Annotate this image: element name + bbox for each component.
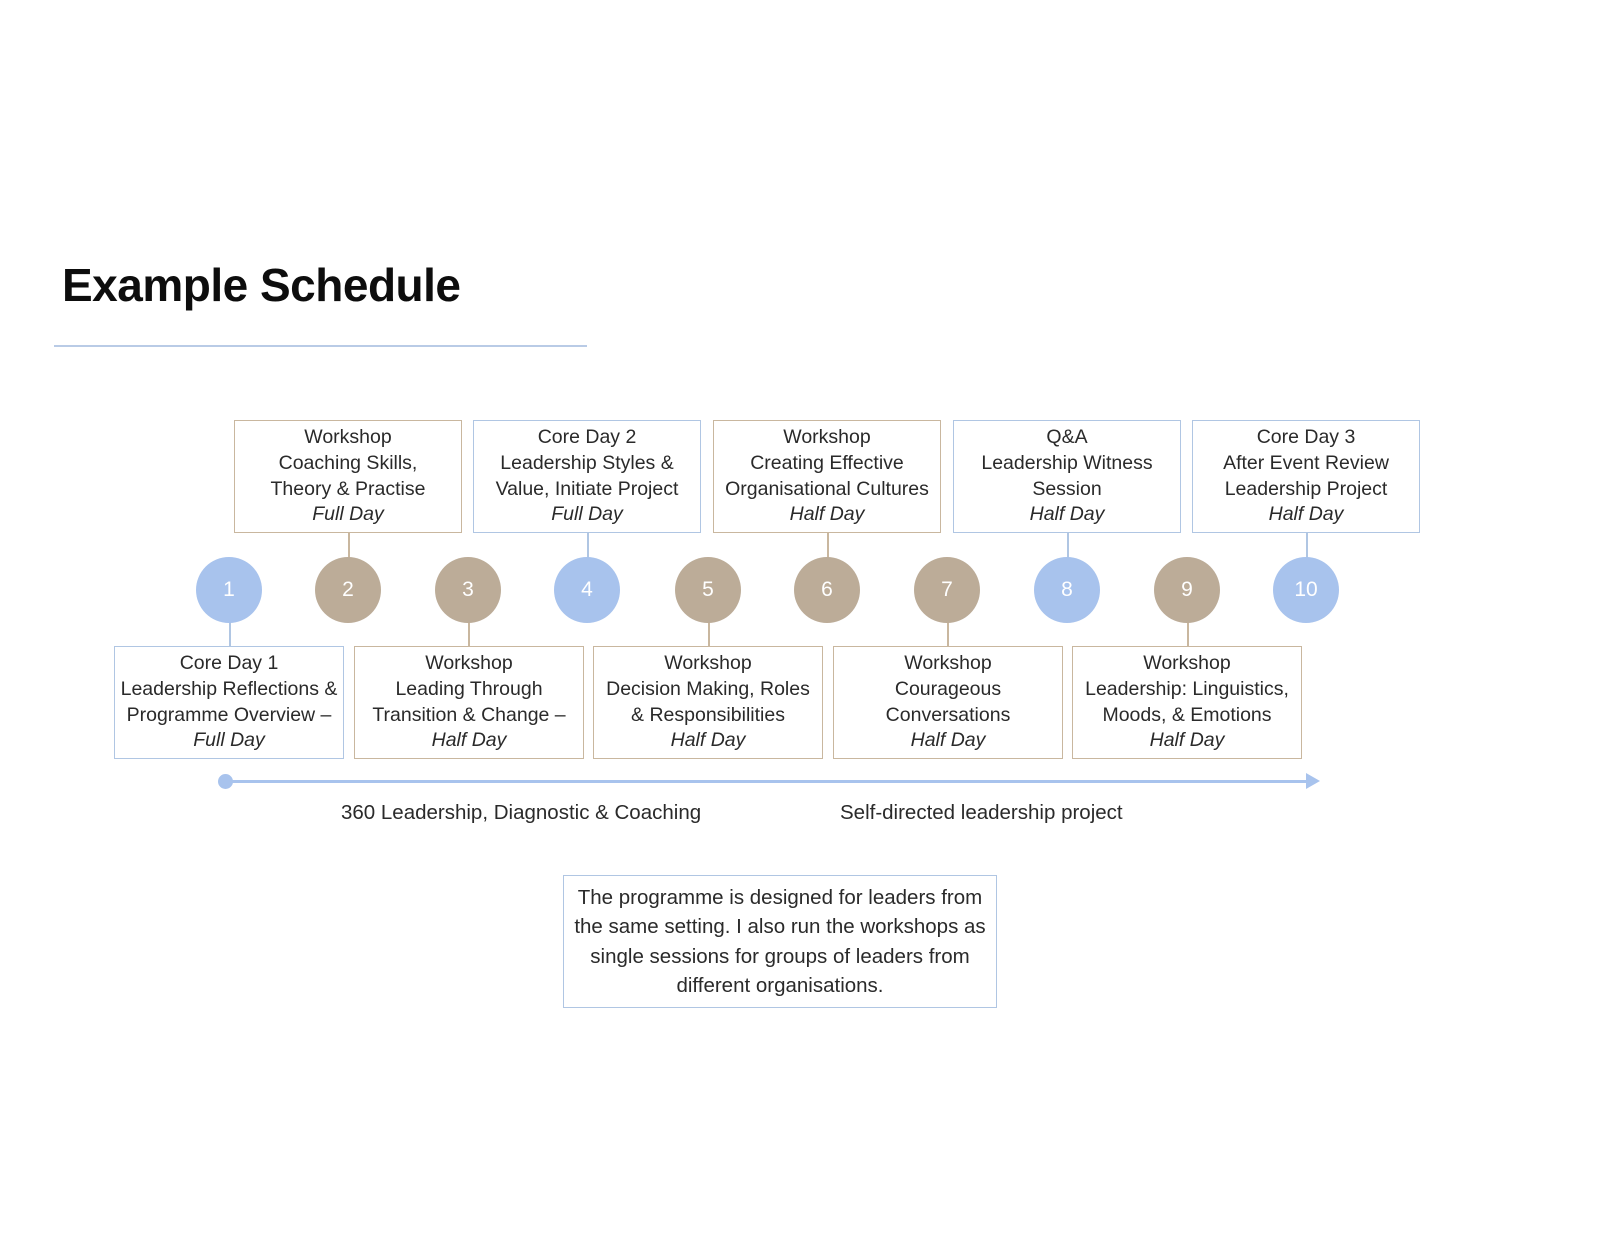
phase-label-2: Self-directed leadership project xyxy=(840,801,1123,825)
card-heading: Q&A xyxy=(1046,425,1087,451)
card-detail-line: Value, Initiate Project xyxy=(496,477,679,503)
card-heading: Core Day 2 xyxy=(538,425,637,451)
node-number: 3 xyxy=(462,578,474,602)
timeline-node-6[interactable]: 6 xyxy=(794,557,860,623)
card-duration: Half Day xyxy=(1269,502,1344,528)
phase-label-1: 360 Leadership, Diagnostic & Coaching xyxy=(341,801,701,825)
card-duration: Half Day xyxy=(1030,502,1105,528)
top-card-2[interactable]: Core Day 2Leadership Styles &Value, Init… xyxy=(473,420,701,533)
card-heading: Workshop xyxy=(304,425,391,451)
node-number: 9 xyxy=(1181,578,1193,602)
card-detail-line: Leadership: Linguistics, xyxy=(1085,677,1289,703)
top-card-1[interactable]: WorkshopCoaching Skills,Theory & Practis… xyxy=(234,420,462,533)
top-card-5[interactable]: Core Day 3After Event ReviewLeadership P… xyxy=(1192,420,1420,533)
card-detail-line: Moods, & Emotions xyxy=(1102,703,1271,729)
card-detail-line: & Responsibilities xyxy=(631,703,785,729)
card-duration: Half Day xyxy=(671,728,746,754)
card-detail-line: Decision Making, Roles xyxy=(606,677,810,703)
note-line: the same setting. I also run the worksho… xyxy=(574,912,985,941)
card-detail-line: Conversations xyxy=(886,703,1011,729)
timeline-node-2[interactable]: 2 xyxy=(315,557,381,623)
node-number: 8 xyxy=(1061,578,1073,602)
timeline-node-5[interactable]: 5 xyxy=(675,557,741,623)
card-detail-line: Leadership Styles & xyxy=(500,451,673,477)
note-line: single sessions for groups of leaders fr… xyxy=(590,942,969,971)
bottom-card-4[interactable]: WorkshopCourageousConversationsHalf Day xyxy=(833,646,1063,759)
node-number: 5 xyxy=(702,578,714,602)
card-duration: Half Day xyxy=(911,728,986,754)
card-detail-line: Theory & Practise xyxy=(271,477,426,503)
node-number: 4 xyxy=(581,578,593,602)
bottom-card-5[interactable]: WorkshopLeadership: Linguistics,Moods, &… xyxy=(1072,646,1302,759)
node-number: 2 xyxy=(342,578,354,602)
card-duration: Full Day xyxy=(193,728,265,754)
bottom-card-3[interactable]: WorkshopDecision Making, Roles& Responsi… xyxy=(593,646,823,759)
card-detail-line: Leadership Project xyxy=(1225,477,1388,503)
card-detail-line: Transition & Change – xyxy=(372,703,565,729)
timeline-node-9[interactable]: 9 xyxy=(1154,557,1220,623)
card-heading: Workshop xyxy=(904,651,991,677)
card-duration: Half Day xyxy=(790,502,865,528)
card-detail-line: Leadership Witness xyxy=(981,451,1152,477)
card-duration: Half Day xyxy=(1150,728,1225,754)
card-duration: Full Day xyxy=(312,502,384,528)
card-detail-line: Courageous xyxy=(895,677,1001,703)
timeline-arrow-line xyxy=(222,780,1312,783)
node-number: 10 xyxy=(1294,578,1317,602)
bottom-card-2[interactable]: WorkshopLeading ThroughTransition & Chan… xyxy=(354,646,584,759)
note-line: The programme is designed for leaders fr… xyxy=(578,883,983,912)
card-heading: Core Day 1 xyxy=(180,651,279,677)
timeline-node-4[interactable]: 4 xyxy=(554,557,620,623)
card-heading: Workshop xyxy=(425,651,512,677)
bottom-card-1[interactable]: Core Day 1Leadership Reflections &Progra… xyxy=(114,646,344,759)
node-number: 6 xyxy=(821,578,833,602)
card-detail-line: After Event Review xyxy=(1223,451,1389,477)
card-detail-line: Leadership Reflections & xyxy=(121,677,338,703)
schedule-timeline: WorkshopCoaching Skills,Theory & Practis… xyxy=(0,0,1600,1237)
timeline-node-10[interactable]: 10 xyxy=(1273,557,1339,623)
card-detail-line: Coaching Skills, xyxy=(279,451,418,477)
timeline-node-3[interactable]: 3 xyxy=(435,557,501,623)
card-duration: Full Day xyxy=(551,502,623,528)
card-detail-line: Programme Overview – xyxy=(127,703,332,729)
card-duration: Half Day xyxy=(432,728,507,754)
card-detail-line: Organisational Cultures xyxy=(725,477,929,503)
timeline-node-8[interactable]: 8 xyxy=(1034,557,1100,623)
node-number: 1 xyxy=(223,578,235,602)
node-number: 7 xyxy=(941,578,953,602)
card-detail-line: Leading Through xyxy=(395,677,542,703)
note-line: different organisations. xyxy=(676,971,883,1000)
card-heading: Core Day 3 xyxy=(1257,425,1356,451)
card-heading: Workshop xyxy=(664,651,751,677)
card-detail-line: Creating Effective xyxy=(750,451,904,477)
top-card-4[interactable]: Q&ALeadership WitnessSessionHalf Day xyxy=(953,420,1181,533)
timeline-node-1[interactable]: 1 xyxy=(196,557,262,623)
timeline-node-7[interactable]: 7 xyxy=(914,557,980,623)
timeline-arrow-head-icon xyxy=(1306,773,1320,789)
card-heading: Workshop xyxy=(783,425,870,451)
card-heading: Workshop xyxy=(1143,651,1230,677)
top-card-3[interactable]: WorkshopCreating EffectiveOrganisational… xyxy=(713,420,941,533)
card-detail-line: Session xyxy=(1032,477,1101,503)
note-callout-box: The programme is designed for leaders fr… xyxy=(563,875,997,1008)
